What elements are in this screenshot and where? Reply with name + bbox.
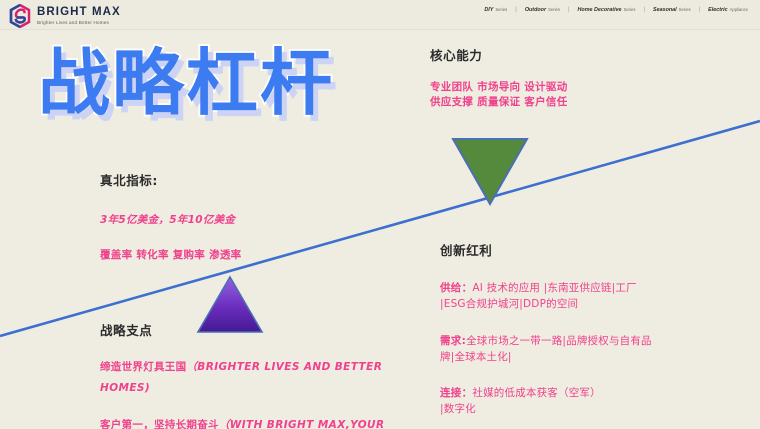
core-capability-line: 专业团队 市场导向 设计驱动	[430, 80, 568, 95]
north-star-metrics: 覆盖率 转化率 复购率 渗透率	[100, 247, 241, 262]
innovation-heading: 创新红利	[440, 240, 740, 259]
innovation-item-connection: 连接：社媒的低成本获客（空军） |数字化	[440, 381, 740, 417]
fulcrum-item-cn: 客户第一，坚持长期奋斗	[100, 419, 219, 429]
fulcrum-heading: 战略支点	[100, 320, 400, 339]
innovation-item-line: 社媒的低成本获客（空军）	[472, 387, 600, 399]
innovation-dividend-block: 创新红利 供给：AI 技术的应用 |东南亚供应链|工厂 |ESG合规护城河|DD…	[440, 240, 740, 417]
innovation-item-line: |数字化	[440, 402, 740, 416]
fulcrum-item-mission: 缔造世界灯具王国（BRIGHTER LIVES AND BETTER HOMES…	[100, 355, 400, 397]
innovation-item-line: |ESG合规护城河|DDP的空间	[440, 297, 740, 311]
strategic-fulcrum-block: 战略支点 缔造世界灯具王国（BRIGHTER LIVES AND BETTER …	[100, 320, 400, 429]
north-star-target: 3年5亿美金，5年10亿美金	[100, 212, 241, 227]
innovation-item-key: 供给：	[440, 282, 472, 294]
slide-canvas: BRIGHT MAX Brighter Lives and Better Hom…	[0, 0, 760, 429]
core-capability-list: 专业团队 市场导向 设计驱动 供应支撑 质量保证 客户信任	[430, 80, 568, 110]
fulcrum-item-value: 客户第一，坚持长期奋斗（WITH BRIGHT MAX,YOUR PROFIT …	[100, 413, 400, 429]
innovation-item-line: 全球市场之一带一路|品牌授权与自有品	[466, 335, 652, 347]
innovation-item-key: 连接：	[440, 387, 472, 399]
innovation-item-demand: 需求:全球市场之一带一路|品牌授权与自有品 牌|全球本土化|	[440, 329, 740, 365]
innovation-item-supply: 供给：AI 技术的应用 |东南亚供应链|工厂 |ESG合规护城河|DDP的空间	[440, 276, 740, 312]
core-capability-block: 核心能力 专业团队 市场导向 设计驱动 供应支撑 质量保证 客户信任	[430, 45, 568, 110]
north-star-block: 真北指标: 3年5亿美金，5年10亿美金 覆盖率 转化率 复购率 渗透率	[100, 170, 241, 262]
green-down-triangle	[450, 136, 530, 206]
core-capability-heading: 核心能力	[430, 45, 568, 64]
core-capability-line: 供应支撑 质量保证 客户信任	[430, 95, 568, 110]
slide-main-title: 战略杠杆	[38, 47, 334, 119]
innovation-item-line: AI 技术的应用 |东南亚供应链|工厂	[472, 282, 636, 294]
innovation-item-line: 牌|全球本土化|	[440, 350, 740, 364]
fulcrum-item-cn: 缔造世界灯具王国	[100, 361, 186, 373]
north-star-heading: 真北指标:	[100, 170, 241, 189]
innovation-item-key: 需求:	[440, 335, 466, 347]
